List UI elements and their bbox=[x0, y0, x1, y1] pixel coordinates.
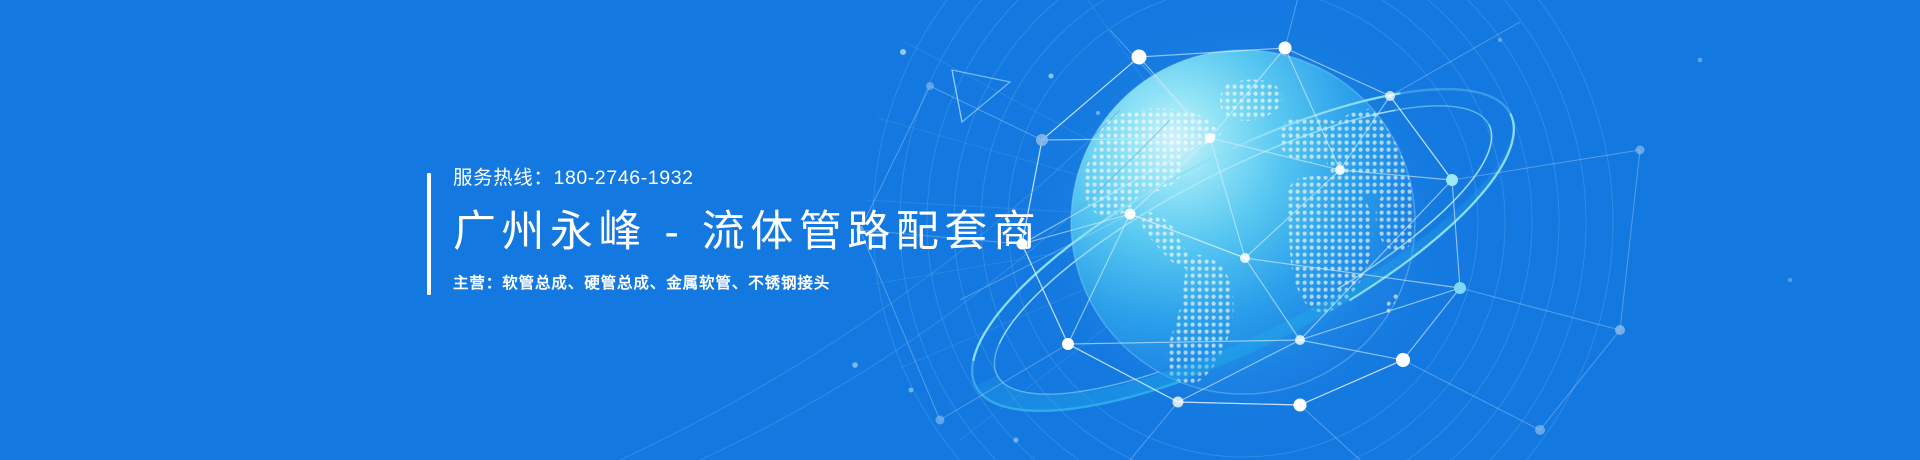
page-title: 广州永峰 - 流体管路配套商 bbox=[453, 189, 1041, 254]
globe-glow bbox=[993, 0, 1493, 460]
banner-text-block: 服务热线：180-2746-1932 广州永峰 - 流体管路配套商 主营：软管总… bbox=[427, 160, 1041, 305]
network-mesh-lines bbox=[1022, 48, 1460, 405]
text-lines: 服务热线：180-2746-1932 广州永峰 - 流体管路配套商 主营：软管总… bbox=[431, 160, 1041, 305]
wireframe-triangle bbox=[952, 70, 1010, 122]
service-hotline: 服务热线：180-2746-1932 bbox=[453, 160, 1041, 189]
main-products-subtitle: 主营：软管总成、硬管总成、金属软管、不锈钢接头 bbox=[453, 254, 1041, 292]
network-globe bbox=[1050, 40, 1450, 420]
hero-banner: 服务热线：180-2746-1932 广州永峰 - 流体管路配套商 主营：软管总… bbox=[0, 0, 1920, 460]
